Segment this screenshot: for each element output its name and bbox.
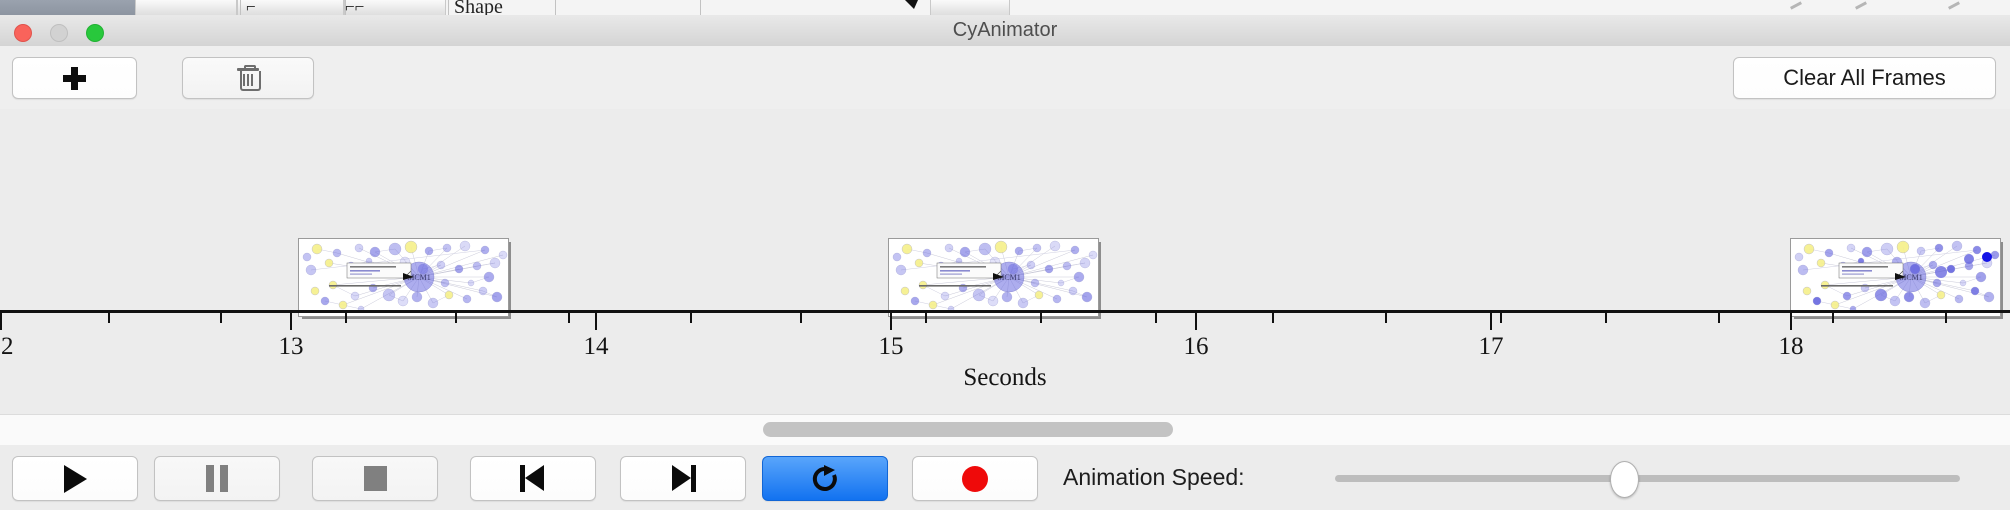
animation-speed-label: Animation Speed: [1063, 456, 1245, 499]
skip-next-button[interactable] [620, 456, 746, 501]
background-window-strip: ⌐ ⌐⌐ Shape [0, 0, 2010, 16]
keyframe-thumbnail-2[interactable]: MCM1 [888, 238, 1101, 319]
record-button[interactable] [912, 456, 1038, 501]
scrollbar-thumb[interactable] [763, 422, 1173, 437]
axis-tick [1385, 313, 1387, 323]
axis-tick [1195, 313, 1197, 330]
clear-all-frames-label: Clear All Frames [1783, 65, 1946, 91]
axis-tick [1490, 313, 1492, 330]
timeline-panel[interactable]: MCM1MCM1MCM1 12131415161718 Seconds [0, 109, 2010, 414]
stop-button[interactable] [312, 456, 438, 501]
axis-tick [568, 313, 570, 323]
background-arrow [1790, 1, 1802, 9]
pause-icon [206, 465, 228, 492]
background-divider [700, 0, 701, 15]
skip-next-icon [670, 465, 696, 492]
axis-tick-label: 15 [879, 333, 904, 361]
record-icon [962, 466, 988, 492]
add-frame-button[interactable] [12, 57, 137, 99]
background-segment [135, 0, 237, 15]
axis-tick [108, 313, 110, 323]
toolbar: Clear All Frames [0, 46, 2010, 110]
axis-tick [1040, 313, 1042, 323]
skip-previous-icon [520, 465, 546, 492]
trash-icon [237, 65, 259, 91]
axis-tick-label: 18 [1779, 333, 1804, 361]
plus-icon [63, 67, 86, 90]
axis-tick-label: 13 [279, 333, 304, 361]
background-arrow [1855, 1, 1867, 9]
keyframe-network-preview: MCM1 [888, 238, 1099, 317]
timeline-axis [0, 310, 2010, 313]
axis-tick [1605, 313, 1607, 323]
axis-tick [290, 313, 292, 330]
window-title: CyAnimator [0, 15, 2010, 46]
timeline-scrollbar[interactable] [0, 414, 2010, 446]
animation-speed-slider[interactable] [1335, 475, 1960, 482]
keyframe-network-preview: MCM1 [298, 238, 509, 317]
axis-tick [800, 313, 802, 323]
background-divider [555, 0, 556, 15]
axis-tick-label: 16 [1184, 333, 1209, 361]
axis-tick-label: 12 [0, 333, 14, 361]
loop-button[interactable] [762, 456, 888, 501]
background-wedge [905, 0, 918, 9]
skip-previous-button[interactable] [470, 456, 596, 501]
axis-tick-label: 14 [584, 333, 609, 361]
axis-tick [345, 313, 347, 323]
axis-tick [690, 313, 692, 323]
playback-control-bar: Animation Speed: [0, 445, 2010, 510]
axis-tick [1500, 313, 1502, 323]
keyframe-network-preview: MCM1 [1790, 238, 2001, 317]
clear-all-frames-button[interactable]: Clear All Frames [1733, 57, 1996, 99]
background-toolbar [0, 0, 135, 15]
axis-tick [455, 313, 457, 323]
axis-tick [0, 313, 2, 330]
axis-tick [1790, 313, 1792, 330]
stop-icon [364, 466, 387, 491]
keyframe-thumbnail-3[interactable]: MCM1 [1790, 238, 2003, 319]
play-button[interactable] [12, 456, 138, 501]
background-label: Shape [454, 0, 503, 16]
background-glyph: ⌐⌐ [345, 0, 364, 16]
background-divider [448, 0, 449, 15]
background-glyph: ⌐ [246, 0, 256, 16]
loop-icon [810, 464, 840, 494]
axis-tick [1272, 313, 1274, 323]
axis-tick [925, 313, 927, 323]
animation-speed-slider-thumb[interactable] [1610, 461, 1639, 498]
axis-tick [595, 313, 597, 330]
axis-title: Seconds [0, 364, 2010, 392]
title-bar: CyAnimator [0, 15, 2010, 47]
axis-tick [220, 313, 222, 323]
cyanimator-window: ⌐ ⌐⌐ Shape CyAnimator [0, 0, 2010, 510]
axis-tick [1832, 313, 1834, 323]
keyframe-thumbnail-1[interactable]: MCM1 [298, 238, 511, 319]
pause-button[interactable] [154, 456, 280, 501]
axis-tick [890, 313, 892, 330]
play-icon [64, 465, 87, 493]
background-divider [240, 0, 241, 15]
axis-tick [1945, 313, 1947, 323]
delete-frame-button[interactable] [182, 57, 314, 99]
background-arrow [1948, 1, 1960, 9]
axis-tick [1718, 313, 1720, 323]
background-segment [930, 0, 1010, 15]
axis-tick [1155, 313, 1157, 323]
axis-tick-label: 17 [1479, 333, 1504, 361]
